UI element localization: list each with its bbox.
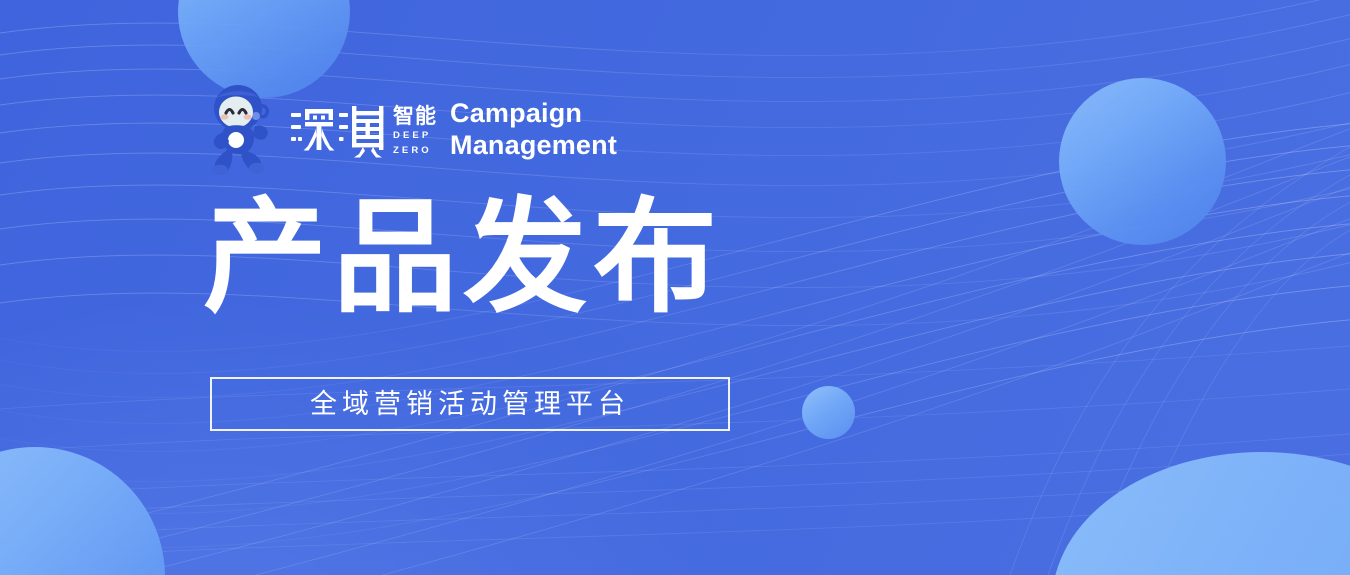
brand-cn-logo-icon xyxy=(289,100,389,160)
brand-logo-lockup: 智能 DEEP ZERO Campaign Management xyxy=(207,82,617,178)
banner-subtitle-box: 全域营销活动管理平台 xyxy=(210,377,730,431)
brand-cn-sub: 智能 xyxy=(393,105,437,127)
robot-mascot-icon xyxy=(207,82,281,178)
wordmark-group: 智能 DEEP ZERO Campaign Management xyxy=(289,98,617,162)
banner-subtitle: 全域营销活动管理平台 xyxy=(310,391,630,418)
product-name-line2: Management xyxy=(450,130,617,162)
brand-en-deep: DEEP xyxy=(393,130,437,142)
product-name-block: Campaign Management xyxy=(450,98,617,162)
banner-content: 智能 DEEP ZERO Campaign Management 产品发布 全域… xyxy=(0,0,1350,575)
brand-sub-block: 智能 DEEP ZERO xyxy=(393,105,437,156)
product-launch-banner: 智能 DEEP ZERO Campaign Management 产品发布 全域… xyxy=(0,0,1350,575)
product-name-line1: Campaign xyxy=(450,98,617,130)
banner-headline: 产品发布 xyxy=(203,196,723,320)
brand-en-zero: ZERO xyxy=(393,145,437,157)
